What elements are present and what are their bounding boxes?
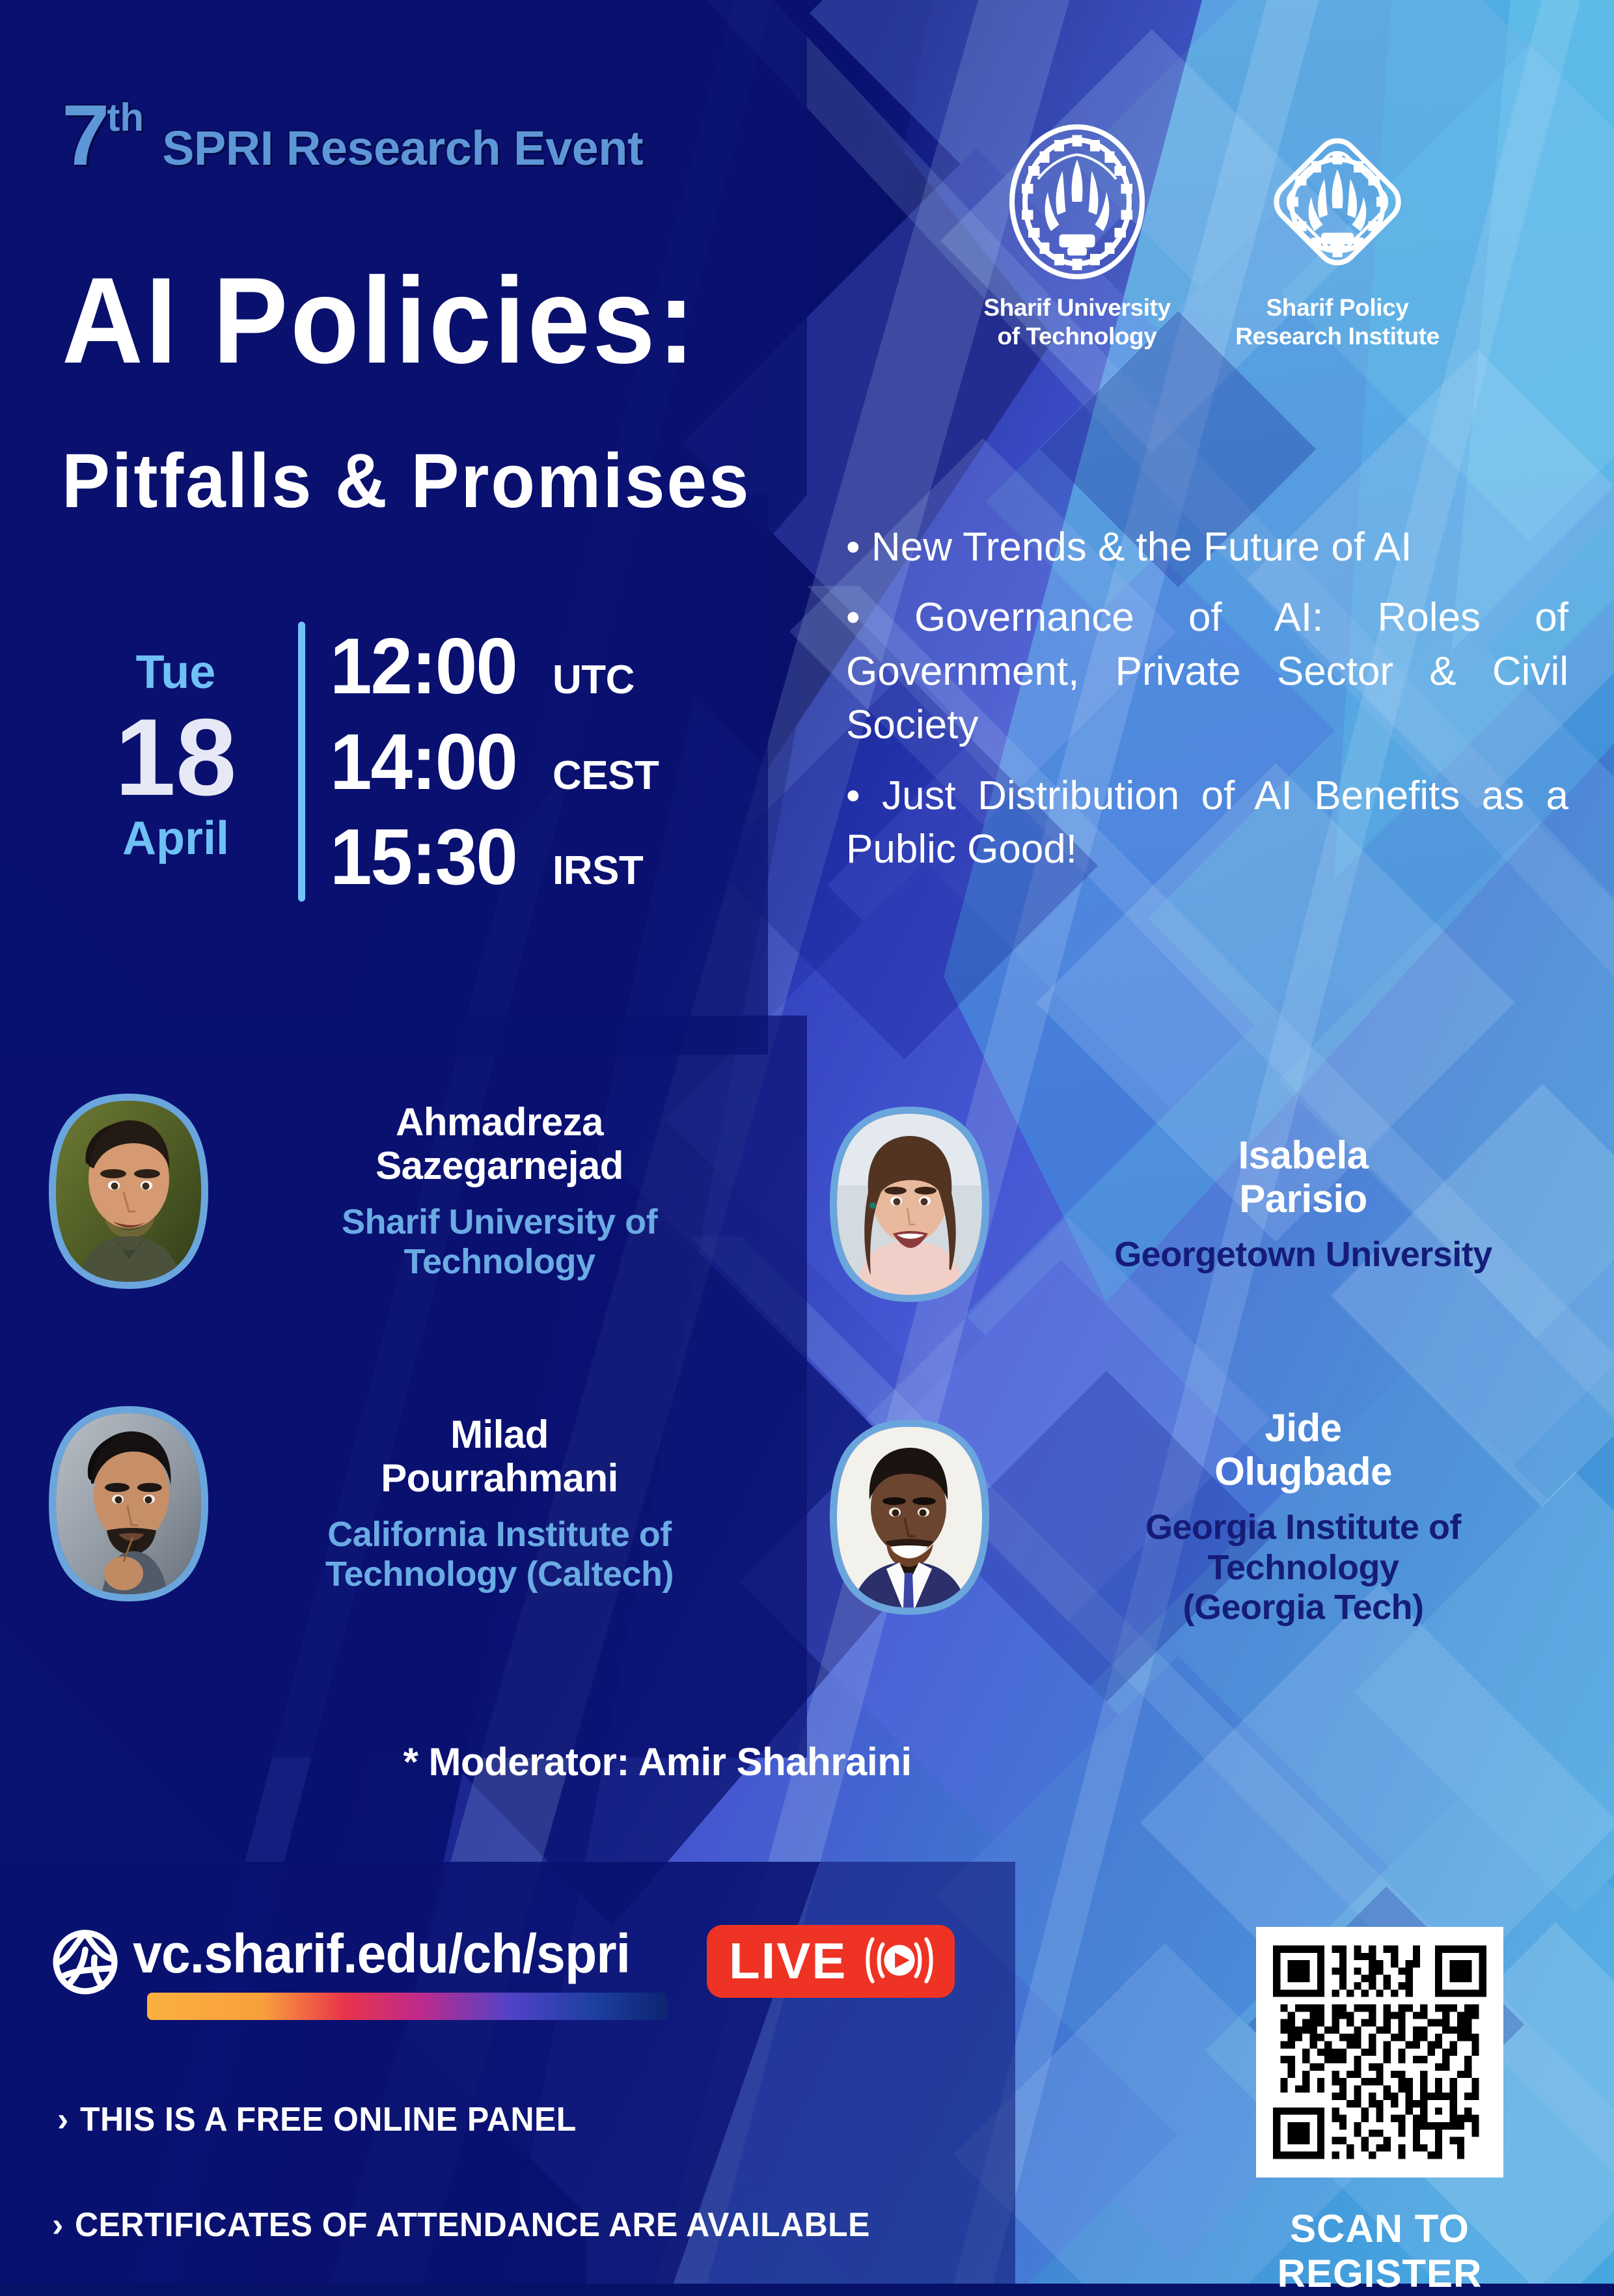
logo-caption: Sharif Universityof Technology (983, 294, 1170, 352)
footer-note: › CERTIFICATES OF ATTENDANCE ARE AVAILAB… (52, 2206, 903, 2245)
footer-note: › THIS IS A FREE ONLINE PANEL (57, 2100, 597, 2139)
speaker-info: JideOlugbade Georgia Institute ofTechnol… (989, 1406, 1598, 1628)
avatar (837, 1114, 982, 1295)
speaker-info: IsabelaParisio Georgetown University (989, 1133, 1598, 1275)
month-name: April (122, 813, 229, 864)
kicker-text: SPRI Research Event (162, 120, 643, 176)
chevron-right-icon: › (52, 2208, 63, 2242)
time-value: 12:00 (330, 622, 534, 711)
avatar (56, 1413, 201, 1594)
speaker-card: IsabelaParisio Georgetown University (830, 1107, 1598, 1302)
day-number: 18 (115, 702, 237, 812)
qr-caption: SCAN TO REGISTER (1197, 2206, 1562, 2296)
ordinal-suffix: th (107, 95, 144, 140)
topic-item: • New Trends & the Future of AI (846, 521, 1568, 574)
speaker-name: AhmadrezaSazegarnejad (208, 1100, 791, 1187)
speaker-info: AhmadrezaSazegarnejad Sharif University … (208, 1100, 791, 1282)
event-datetime: Tue 18 April 12:00 UTC 14:00 CEST 15:30 … (78, 622, 659, 902)
footer-note-text: CERTIFICATES OF ATTENDANCE ARE AVAILABLE (75, 2206, 870, 2245)
avatar (56, 1101, 201, 1282)
page-subtitle: Pitfalls & Promises (62, 443, 750, 519)
time-row: 14:00 CEST (330, 717, 659, 807)
speaker-card: JideOlugbade Georgia Institute ofTechnol… (830, 1406, 1598, 1628)
live-badge: LIVE (707, 1925, 955, 1998)
logo-group: Sharif Universityof Technology (970, 120, 1445, 352)
time-row: 15:30 IRST (330, 812, 659, 902)
time-value: 15:30 (330, 812, 534, 902)
time-row: 12:00 UTC (330, 622, 659, 711)
stream-url[interactable]: vc.sharif.edu/ch/spri (133, 1926, 646, 1981)
qr-code-icon[interactable] (1256, 1927, 1503, 2178)
time-zone: IRST (553, 848, 643, 894)
sharif-university-seal-icon (996, 120, 1158, 283)
day-of-week: Tue (136, 647, 216, 698)
time-zone: CEST (553, 753, 659, 799)
date-block: Tue 18 April (78, 622, 273, 902)
speaker-affiliation: Sharif University ofTechnology (208, 1202, 791, 1282)
qr-register-block: SCAN TO REGISTER (1197, 1927, 1562, 2296)
speaker-affiliation: Georgia Institute ofTechnology(Georgia T… (1009, 1508, 1598, 1628)
stream-link-row: vc.sharif.edu/ch/spri LIVE (47, 1924, 955, 2020)
speaker-affiliation: California Institute ofTechnology (Calte… (208, 1515, 791, 1595)
vertical-divider (298, 622, 305, 902)
speaker-affiliation: Georgetown University (1009, 1235, 1598, 1275)
ordinal-number: 7 (62, 99, 107, 172)
avatar (837, 1427, 982, 1608)
speaker-name: IsabelaParisio (1009, 1133, 1598, 1221)
time-list: 12:00 UTC 14:00 CEST 15:30 IRST (330, 622, 659, 902)
stream-url-block[interactable]: vc.sharif.edu/ch/spri (133, 1926, 668, 2020)
gradient-underline (147, 1993, 668, 2020)
topic-list: • New Trends & the Future of AI • Govern… (846, 521, 1568, 877)
speaker-name: JideOlugbade (1009, 1406, 1598, 1493)
logo-sharif-university: Sharif Universityof Technology (970, 120, 1184, 352)
speaker-card: MiladPourrahmani California Institute of… (49, 1406, 791, 1601)
sharif-policy-institute-seal-icon (1256, 120, 1419, 283)
speaker-name: MiladPourrahmani (208, 1413, 791, 1500)
broadcast-play-icon (861, 1933, 938, 1989)
page-title: AI Policies: (62, 259, 698, 381)
live-label: LIVE (729, 1935, 847, 1986)
footer-note-text: THIS IS A FREE ONLINE PANEL (80, 2100, 577, 2139)
event-kicker: 7 th SPRI Research Event (62, 99, 643, 176)
speaker-card: AhmadrezaSazegarnejad Sharif University … (49, 1094, 791, 1289)
avatar-frame (49, 1094, 208, 1289)
globe-icon (47, 1924, 124, 2002)
speaker-info: MiladPourrahmani California Institute of… (208, 1413, 791, 1594)
time-zone: UTC (553, 657, 635, 703)
chevron-right-icon: › (57, 2103, 68, 2137)
logo-caption: Sharif PolicyResearch Institute (1235, 294, 1440, 352)
moderator-note: * Moderator: Amir Shahraini (0, 1739, 1315, 1784)
logo-sharif-policy-institute: Sharif PolicyResearch Institute (1230, 120, 1445, 352)
time-value: 14:00 (330, 717, 534, 807)
topic-item: • Just Distribution of AI Benefits as a … (846, 769, 1568, 877)
topic-item: • Governance of AI: Roles of Government,… (846, 591, 1568, 752)
avatar-frame (830, 1107, 989, 1302)
avatar-frame (830, 1420, 989, 1615)
avatar-frame (49, 1406, 208, 1601)
